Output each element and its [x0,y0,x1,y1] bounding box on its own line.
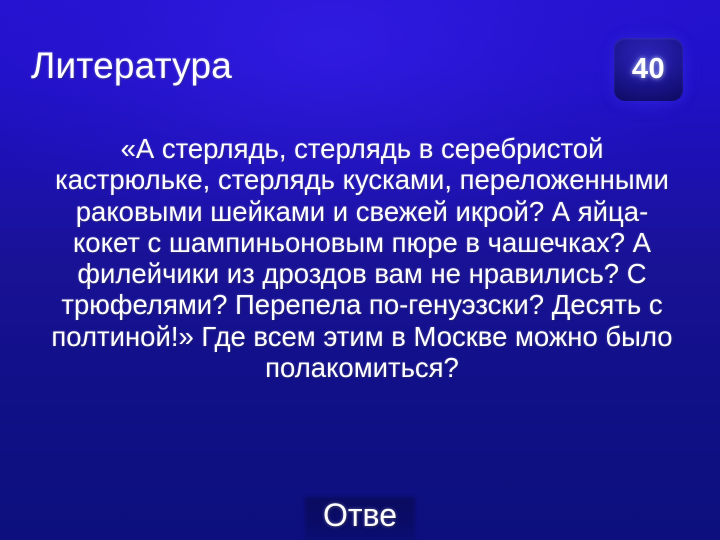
quiz-slide: Литература 40 «А стерлядь, стерлядь в се… [0,0,720,540]
score-badge: 40 [600,24,698,116]
score-badge-shape-icon: 40 [614,38,683,101]
question-text: «А стерлядь, стерлядь в серебристой каст… [48,133,676,383]
answer-button[interactable]: Отве [255,496,465,534]
page-title: Литература [31,44,232,88]
score-badge-value: 40 [632,55,665,84]
